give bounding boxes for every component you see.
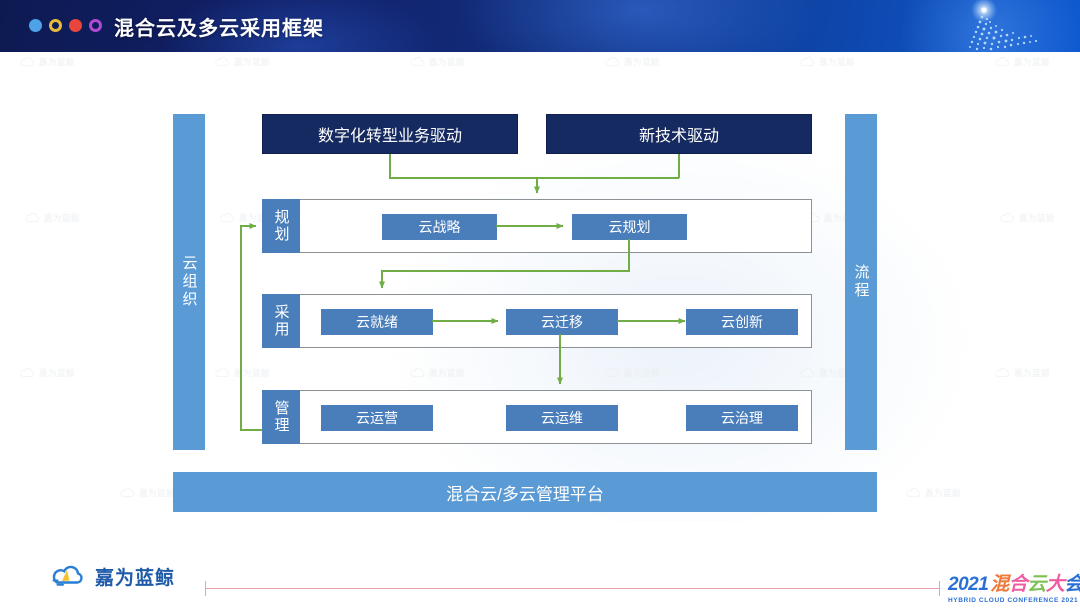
conference-name-char-1: 混	[990, 569, 1009, 596]
conference-name-char-4: 大	[1046, 569, 1065, 596]
step-label: 云创新	[721, 312, 763, 332]
stage-label-text: 采用	[271, 304, 292, 338]
stage-row-management: 管理 云运营 云运维 云治理	[262, 390, 812, 444]
stage-row-planning: 规划 云战略 云规划	[262, 199, 812, 253]
footer-divider	[205, 588, 940, 589]
step-cloud-migration[interactable]: 云迁移	[506, 309, 618, 335]
conference-name-char-2: 合	[1009, 569, 1028, 596]
stage-label-adoption: 采用	[262, 294, 300, 348]
driver-box-new-technology[interactable]: 新技术驱动	[546, 114, 812, 154]
conference-name-char-3: 云	[1027, 569, 1046, 596]
slide-root: 混合云及多云采用框架 嘉为蓝鲸 嘉为蓝鲸 嘉为蓝鲸 嘉为蓝鲸	[0, 0, 1080, 608]
framework-diagram: 云组织 流程 数字化转型业务驱动 新技术驱动 规划 云战略	[0, 52, 1080, 550]
stage-row-adoption: 采用 云就绪 云迁移 云创新	[262, 294, 812, 348]
platform-bar-hybrid-multicloud[interactable]: 混合云/多云管理平台	[173, 472, 877, 512]
step-label: 云运营	[356, 408, 398, 428]
driver-label: 数字化转型业务驱动	[318, 122, 462, 146]
brand-logo-text: 嘉为蓝鲸	[95, 563, 175, 590]
stage-label-management: 管理	[262, 390, 300, 444]
dot-purple-icon	[89, 19, 102, 32]
right-column-process: 流程	[845, 114, 877, 450]
step-cloud-innovation[interactable]: 云创新	[686, 309, 798, 335]
step-cloud-maintenance[interactable]: 云运维	[506, 405, 618, 431]
slide-header: 混合云及多云采用框架	[0, 0, 1080, 52]
conference-subtitle: HYBRID CLOUD CONFERENCE 2021	[948, 597, 1080, 604]
slide-body: 嘉为蓝鲸 嘉为蓝鲸 嘉为蓝鲸 嘉为蓝鲸 嘉为蓝鲸 嘉为蓝鲸	[0, 52, 1080, 550]
conference-name-char-5: 会	[1064, 569, 1080, 596]
dot-gold-icon	[49, 19, 62, 32]
step-label: 云运维	[541, 408, 583, 428]
step-label: 云治理	[721, 408, 763, 428]
right-column-label: 流程	[851, 264, 872, 300]
step-label: 云战略	[419, 217, 461, 237]
conference-year: 2021	[948, 574, 988, 596]
step-label: 云规划	[609, 217, 651, 237]
dot-red-icon	[69, 19, 82, 32]
conference-title: 2021 混 合 云 大 会	[948, 569, 1080, 596]
platform-bar-label: 混合云/多云管理平台	[446, 480, 604, 505]
step-cloud-governance[interactable]: 云治理	[686, 405, 798, 431]
step-cloud-operations[interactable]: 云运营	[321, 405, 433, 431]
driver-box-digital-transformation[interactable]: 数字化转型业务驱动	[262, 114, 518, 154]
step-label: 云就绪	[356, 312, 398, 332]
header-particle-decoration	[910, 0, 1040, 52]
left-column-cloud-organization: 云组织	[173, 114, 205, 450]
footer-divider-cap-left	[205, 581, 206, 596]
header-dot-group	[29, 19, 102, 32]
driver-label: 新技术驱动	[639, 122, 719, 146]
cloud-whale-icon	[48, 562, 88, 590]
stage-label-text: 规划	[271, 209, 292, 243]
step-cloud-strategy[interactable]: 云战略	[382, 214, 497, 240]
dot-blue-icon	[29, 19, 42, 32]
step-label: 云迁移	[541, 312, 583, 332]
brand-logo: 嘉为蓝鲸	[48, 562, 175, 590]
stage-label-planning: 规划	[262, 199, 300, 253]
conference-logo: 2021 混 合 云 大 会 HYBRID CLOUD CONFERENCE 2…	[948, 569, 1080, 604]
slide-footer: 嘉为蓝鲸	[0, 550, 1080, 608]
step-cloud-planning[interactable]: 云规划	[572, 214, 687, 240]
footer-divider-cap-right	[939, 581, 940, 596]
step-cloud-ready[interactable]: 云就绪	[321, 309, 433, 335]
left-column-label: 云组织	[179, 255, 200, 309]
page-title: 混合云及多云采用框架	[114, 12, 324, 41]
stage-label-text: 管理	[271, 400, 292, 434]
